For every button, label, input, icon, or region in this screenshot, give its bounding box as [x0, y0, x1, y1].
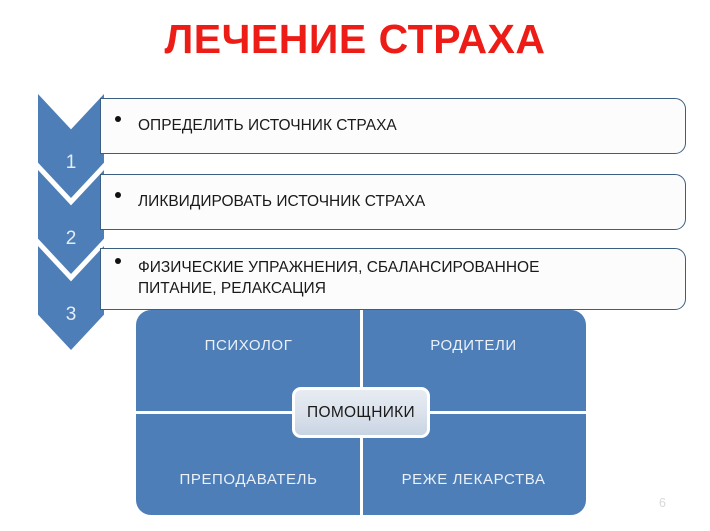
matrix-label-teacher: ПРЕПОДАВАТЕЛЬ — [179, 471, 317, 488]
bullet-icon — [115, 116, 121, 122]
bullet-icon — [115, 192, 121, 198]
step-label-2: ЛИКВИДИРОВАТЬ ИСТОЧНИК СТРАХА — [130, 192, 425, 213]
step-box-3: ФИЗИЧЕСКИЕ УПРАЖНЕНИЯ, СБАЛАНСИРОВАННОЕ … — [100, 248, 686, 310]
step-label-1: ОПРЕДЕЛИТЬ ИСТОЧНИК СТРАХА — [130, 116, 397, 137]
step-content-3: ФИЗИЧЕСКИЕ УПРАЖНЕНИЯ, СБАЛАНСИРОВАННОЕ … — [101, 258, 549, 300]
step-box-2: ЛИКВИДИРОВАТЬ ИСТОЧНИК СТРАХА — [100, 174, 686, 230]
bullet-icon — [115, 258, 121, 264]
page-title: ЛЕЧЕНИЕ СТРАХА — [0, 17, 710, 62]
step-label-3: ФИЗИЧЕСКИЕ УПРАЖНЕНИЯ, СБАЛАНСИРОВАННОЕ … — [130, 258, 539, 300]
helpers-matrix: ПСИХОЛОГ РОДИТЕЛИ ПРЕПОДАВАТЕЛЬ РЕЖЕ ЛЕК… — [136, 310, 586, 515]
matrix-label-parents: РОДИТЕЛИ — [430, 337, 517, 354]
step-content-1: ОПРЕДЕЛИТЬ ИСТОЧНИК СТРАХА — [101, 116, 407, 137]
step-content-2: ЛИКВИДИРОВАТЬ ИСТОЧНИК СТРАХА — [101, 192, 435, 213]
chevron-number-1: 1 — [66, 153, 77, 172]
chevron-number-3: 3 — [66, 305, 77, 324]
chevron-number-2: 2 — [66, 229, 77, 248]
matrix-label-psychologist: ПСИХОЛОГ — [205, 337, 293, 354]
slide-canvas: ЛЕЧЕНИЕ СТРАХА 1 ОПРЕДЕЛИТЬ ИСТОЧНИК СТР… — [0, 0, 710, 531]
page-number: 6 — [659, 496, 666, 510]
matrix-center-label: ПОМОЩНИКИ — [292, 387, 430, 438]
matrix-label-medication: РЕЖЕ ЛЕКАРСТВА — [402, 471, 546, 488]
step-box-1: ОПРЕДЕЛИТЬ ИСТОЧНИК СТРАХА — [100, 98, 686, 154]
